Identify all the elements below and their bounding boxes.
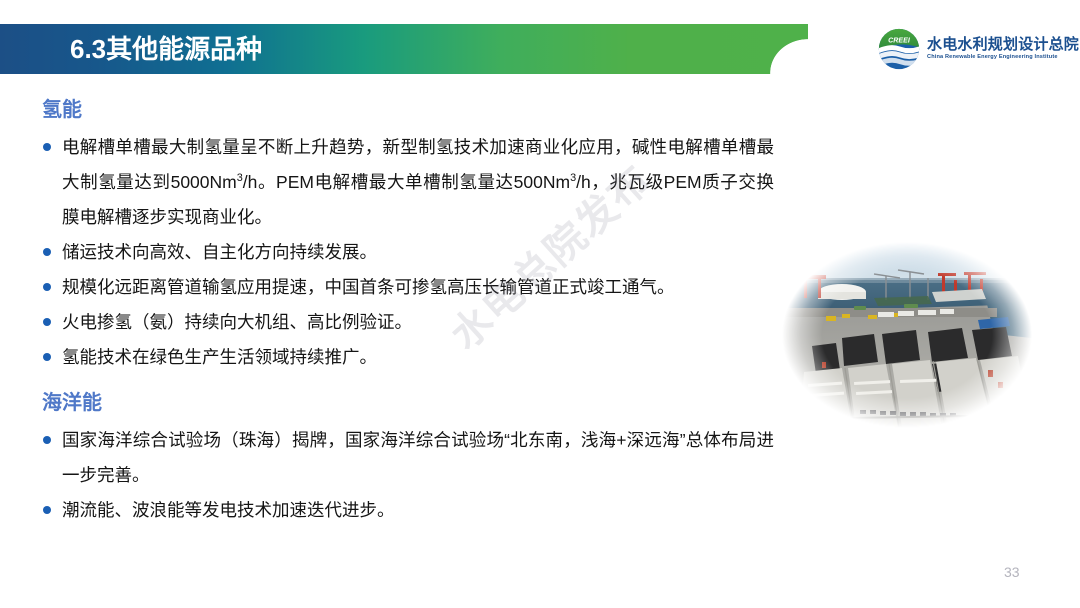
port-aerial-illustration — [782, 242, 1032, 428]
bullet-dot-icon — [43, 318, 51, 326]
svg-text:CREEI: CREEI — [888, 36, 911, 44]
bullet-dot-icon — [43, 248, 51, 256]
list-item-text: 规模化远距离管道输氢应用提速，中国首条可掺氢高压长输管道正式竣工通气。 — [62, 277, 675, 297]
list-item: 储运技术向高效、自主化方向持续发展。 — [42, 235, 774, 270]
bullet-dot-icon — [43, 143, 51, 151]
bullet-list-ocean-energy: 国家海洋综合试验场（珠海）揭牌，国家海洋综合试验场“北东南，浅海+深远海”总体布… — [0, 423, 1080, 528]
list-item-text: 国家海洋综合试验场（珠海）揭牌，国家海洋综合试验场“北东南，浅海+深远海”总体布… — [62, 430, 774, 485]
logo-name-cn: 水电水利规划设计总院 — [927, 36, 1079, 53]
creei-emblem-icon: CREEI — [878, 28, 920, 70]
list-item: 国家海洋综合试验场（珠海）揭牌，国家海洋综合试验场“北东南，浅海+深远海”总体布… — [42, 423, 774, 493]
list-item-text: 氢能技术在绿色生产生活领域持续推广。 — [62, 347, 377, 367]
logo-name-en: China Renewable Energy Engineering Insti… — [927, 53, 1079, 62]
bullet-dot-icon — [43, 506, 51, 514]
page-number: 33 — [1004, 563, 1020, 581]
list-item: 规模化远距离管道输氢应用提速，中国首条可掺氢高压长输管道正式竣工通气。 — [42, 270, 774, 305]
bullet-dot-icon — [43, 353, 51, 361]
list-item-text-b: /h。PEM电解槽最大单槽制氢量达500Nm — [243, 172, 570, 192]
organization-logo: CREEI 水电水利规划设计总院 China Renewable Energy … — [878, 28, 1079, 70]
page-title: 6.3其他能源品种 — [70, 29, 262, 69]
port-aerial-photo — [782, 242, 1032, 428]
list-item-text: 潮流能、波浪能等发电技术加速迭代进步。 — [62, 500, 395, 520]
list-item-text: 火电掺氢（氨）持续向大机组、高比例验证。 — [62, 312, 412, 332]
bullet-dot-icon — [43, 436, 51, 444]
logo-text-block: 水电水利规划设计总院 China Renewable Energy Engine… — [927, 36, 1079, 62]
list-item: 潮流能、波浪能等发电技术加速迭代进步。 — [42, 493, 774, 528]
slide: 6.3其他能源品种 CREEI 水电水利规划设计总院 China Renewab — [0, 0, 1080, 608]
list-item: 火电掺氢（氨）持续向大机组、高比例验证。 — [42, 305, 774, 340]
section-heading-hydrogen: 氢能 — [42, 96, 1080, 124]
list-item-text: 储运技术向高效、自主化方向持续发展。 — [62, 242, 377, 262]
bullet-dot-icon — [43, 283, 51, 291]
list-item: 氢能技术在绿色生产生活领域持续推广。 — [42, 340, 774, 375]
list-item: 电解槽单槽最大制氢量呈不断上升趋势，新型制氢技术加速商业化应用，碱性电解槽单槽最… — [42, 130, 774, 235]
